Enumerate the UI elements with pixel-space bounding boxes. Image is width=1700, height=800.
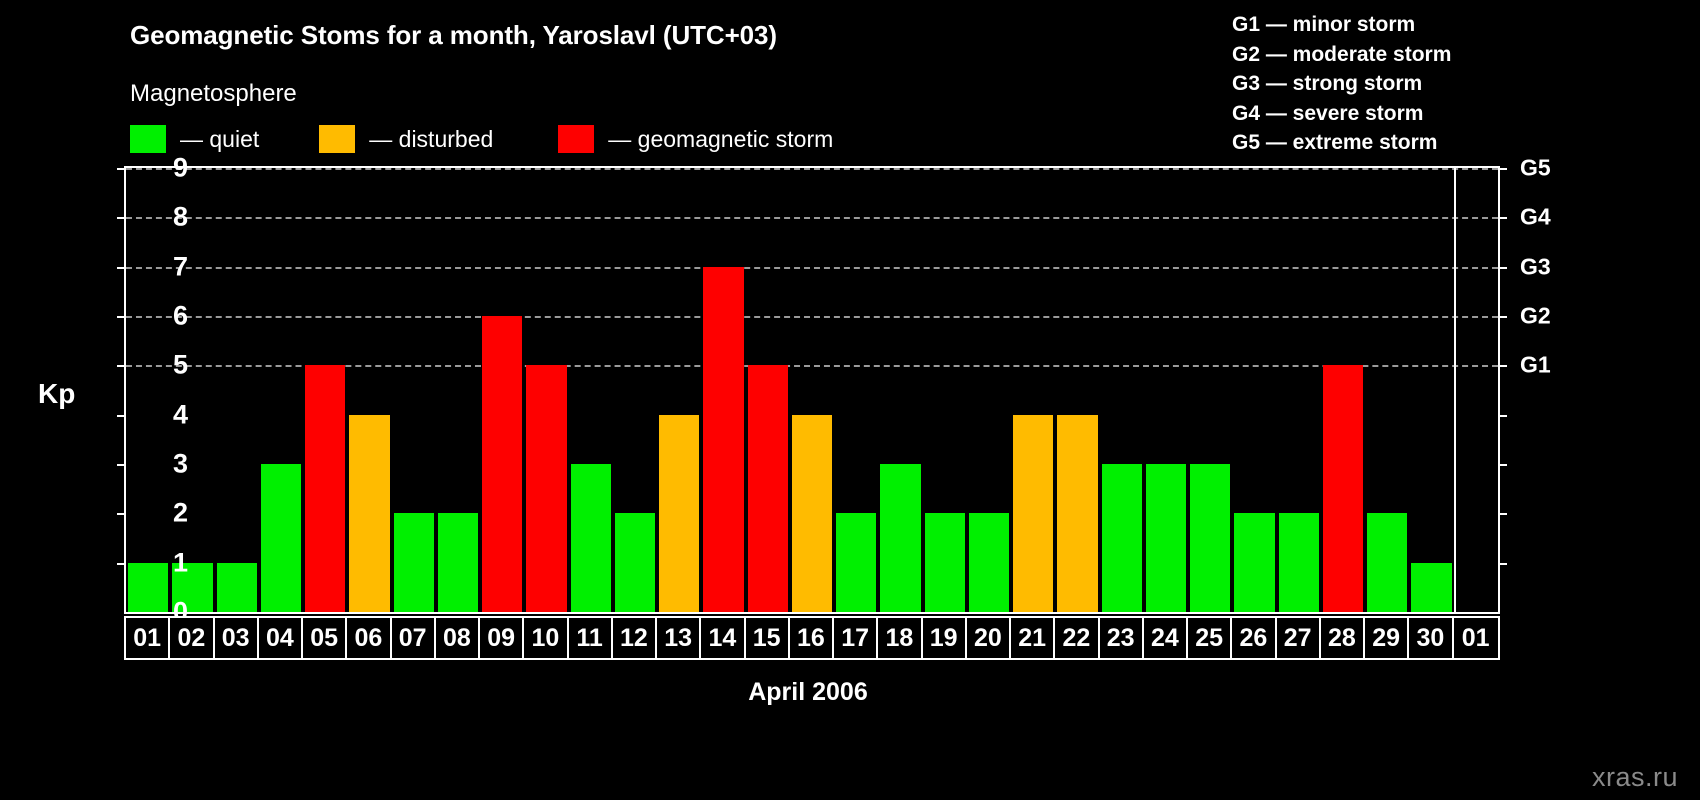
- bar-day-29: [1367, 513, 1407, 612]
- x-axis-day-label[interactable]: 17: [834, 618, 878, 658]
- legend-label-quiet: — quiet: [180, 126, 259, 153]
- gscale-line-g2: G2 — moderate storm: [1232, 40, 1451, 70]
- x-axis-day-label[interactable]: 08: [436, 618, 480, 658]
- x-axis-day-label[interactable]: 29: [1365, 618, 1409, 658]
- bar-day-30: [1411, 563, 1451, 612]
- x-axis-title-text: April 2006: [748, 678, 868, 707]
- x-axis-day-label[interactable]: 19: [923, 618, 967, 658]
- bar-day-21: [1013, 415, 1053, 612]
- legend-swatch-quiet-icon: [130, 125, 166, 153]
- gscale-line-g3: G3 — strong storm: [1232, 69, 1451, 99]
- bar-day-17: [836, 513, 876, 612]
- right-tick: [1498, 316, 1507, 318]
- page-title: Geomagnetic Stoms for a month, Yaroslavl…: [130, 20, 777, 51]
- gscale-line-g4: G4 — severe storm: [1232, 99, 1451, 129]
- bar-day-27: [1279, 513, 1319, 612]
- bar-day-28: [1323, 365, 1363, 612]
- bar-day-05: [305, 365, 345, 612]
- bar-day-03: [217, 563, 257, 612]
- x-axis-day-label[interactable]: 11: [569, 618, 613, 658]
- y-axis-tick-label: 9: [148, 153, 188, 184]
- x-axis-day-label[interactable]: 10: [524, 618, 568, 658]
- bar-day-12: [615, 513, 655, 612]
- x-axis-day-label[interactable]: 01: [1454, 618, 1498, 658]
- bar-day-20: [969, 513, 1009, 612]
- bar-day-10: [526, 365, 566, 612]
- x-axis-day-label[interactable]: 22: [1055, 618, 1099, 658]
- y-tick: [117, 365, 126, 367]
- month-divider: [1454, 168, 1456, 612]
- x-axis-day-label[interactable]: 21: [1011, 618, 1055, 658]
- y-axis-tick-label: 4: [148, 399, 188, 430]
- legend-label-storm: — geomagnetic storm: [608, 126, 833, 153]
- y-tick: [117, 464, 126, 466]
- x-axis-day-label[interactable]: 28: [1321, 618, 1365, 658]
- legend-item-storm: — geomagnetic storm: [558, 125, 833, 153]
- y-tick: [117, 267, 126, 269]
- right-axis-tick-label: G5: [1520, 155, 1551, 182]
- y-axis-tick-label: 6: [148, 301, 188, 332]
- x-axis-title: April 2006: [0, 678, 1700, 707]
- y-axis-tick-label: 3: [148, 449, 188, 480]
- x-axis-day-label[interactable]: 24: [1144, 618, 1188, 658]
- bar-day-14: [703, 267, 743, 612]
- bar-day-04: [261, 464, 301, 612]
- x-axis-day-label[interactable]: 16: [790, 618, 834, 658]
- x-axis-day-label[interactable]: 01: [126, 618, 170, 658]
- chart-page: Geomagnetic Stoms for a month, Yaroslavl…: [0, 0, 1700, 800]
- bar-day-24: [1146, 464, 1186, 612]
- legend-label-disturbed: — disturbed: [369, 126, 493, 153]
- legend-swatch-disturbed-icon: [319, 125, 355, 153]
- right-axis-tick-label: G3: [1520, 253, 1551, 280]
- y-tick: [117, 415, 126, 417]
- x-axis-day-label[interactable]: 15: [746, 618, 790, 658]
- bar-day-06: [349, 415, 389, 612]
- bar-day-15: [748, 365, 788, 612]
- x-axis-day-label[interactable]: 12: [613, 618, 657, 658]
- gscale-line-g1: G1 — minor storm: [1232, 10, 1451, 40]
- right-axis-tick-label: G4: [1520, 204, 1551, 231]
- x-axis-day-label[interactable]: 30: [1409, 618, 1453, 658]
- x-axis-day-label[interactable]: 26: [1232, 618, 1276, 658]
- x-axis-day-label[interactable]: 23: [1100, 618, 1144, 658]
- y-tick: [117, 168, 126, 170]
- legend-heading: Magnetosphere: [130, 80, 297, 108]
- bar-day-19: [925, 513, 965, 612]
- y-tick: [117, 217, 126, 219]
- x-axis-day-label[interactable]: 06: [347, 618, 391, 658]
- y-axis-tick-label: 1: [148, 547, 188, 578]
- x-axis-day-label[interactable]: 02: [170, 618, 214, 658]
- x-axis-day-label[interactable]: 05: [303, 618, 347, 658]
- legend-item-quiet: — quiet: [130, 125, 259, 153]
- watermark: xras.ru: [1592, 762, 1678, 793]
- gscale-line-g5: G5 — extreme storm: [1232, 128, 1451, 158]
- bars-series: [126, 168, 1498, 612]
- legend: — quiet — disturbed — geomagnetic storm: [130, 125, 833, 153]
- x-axis-day-label[interactable]: 04: [259, 618, 303, 658]
- bar-day-07: [394, 513, 434, 612]
- bar-day-13: [659, 415, 699, 612]
- x-axis-day-label[interactable]: 14: [701, 618, 745, 658]
- bar-day-25: [1190, 464, 1230, 612]
- gscale-legend: G1 — minor storm G2 — moderate storm G3 …: [1232, 10, 1451, 158]
- right-tick: [1498, 464, 1507, 466]
- right-tick: [1498, 513, 1507, 515]
- x-axis-day-label[interactable]: 13: [657, 618, 701, 658]
- x-axis-day-label[interactable]: 20: [967, 618, 1011, 658]
- bar-day-22: [1057, 415, 1097, 612]
- x-axis-day-label[interactable]: 03: [215, 618, 259, 658]
- right-tick: [1498, 365, 1507, 367]
- bar-day-26: [1234, 513, 1274, 612]
- x-axis-day-label[interactable]: 07: [392, 618, 436, 658]
- right-tick: [1498, 267, 1507, 269]
- right-tick: [1498, 217, 1507, 219]
- bar-day-18: [880, 464, 920, 612]
- bar-day-23: [1102, 464, 1142, 612]
- x-axis-day-label[interactable]: 25: [1188, 618, 1232, 658]
- y-tick: [117, 563, 126, 565]
- y-axis-title: Kp: [38, 378, 75, 410]
- y-axis-tick-label: 8: [148, 202, 188, 233]
- y-axis-tick-label: 7: [148, 251, 188, 282]
- bar-day-11: [571, 464, 611, 612]
- x-axis-day-label[interactable]: 09: [480, 618, 524, 658]
- plot-area: [124, 166, 1500, 614]
- x-axis-day-label[interactable]: 27: [1277, 618, 1321, 658]
- bar-day-08: [438, 513, 478, 612]
- legend-swatch-storm-icon: [558, 125, 594, 153]
- y-tick: [117, 316, 126, 318]
- right-tick: [1498, 415, 1507, 417]
- right-tick: [1498, 563, 1507, 565]
- right-tick: [1498, 168, 1507, 170]
- x-axis-day-strip: 0102030405060708091011121314151617181920…: [124, 616, 1500, 660]
- y-axis-tick-label: 2: [148, 498, 188, 529]
- y-axis-tick-label: 5: [148, 350, 188, 381]
- right-axis-tick-label: G2: [1520, 303, 1551, 330]
- legend-item-disturbed: — disturbed: [319, 125, 493, 153]
- right-axis-tick-label: G1: [1520, 352, 1551, 379]
- bar-day-16: [792, 415, 832, 612]
- x-axis-day-label[interactable]: 18: [878, 618, 922, 658]
- bar-day-09: [482, 316, 522, 612]
- y-tick: [117, 513, 126, 515]
